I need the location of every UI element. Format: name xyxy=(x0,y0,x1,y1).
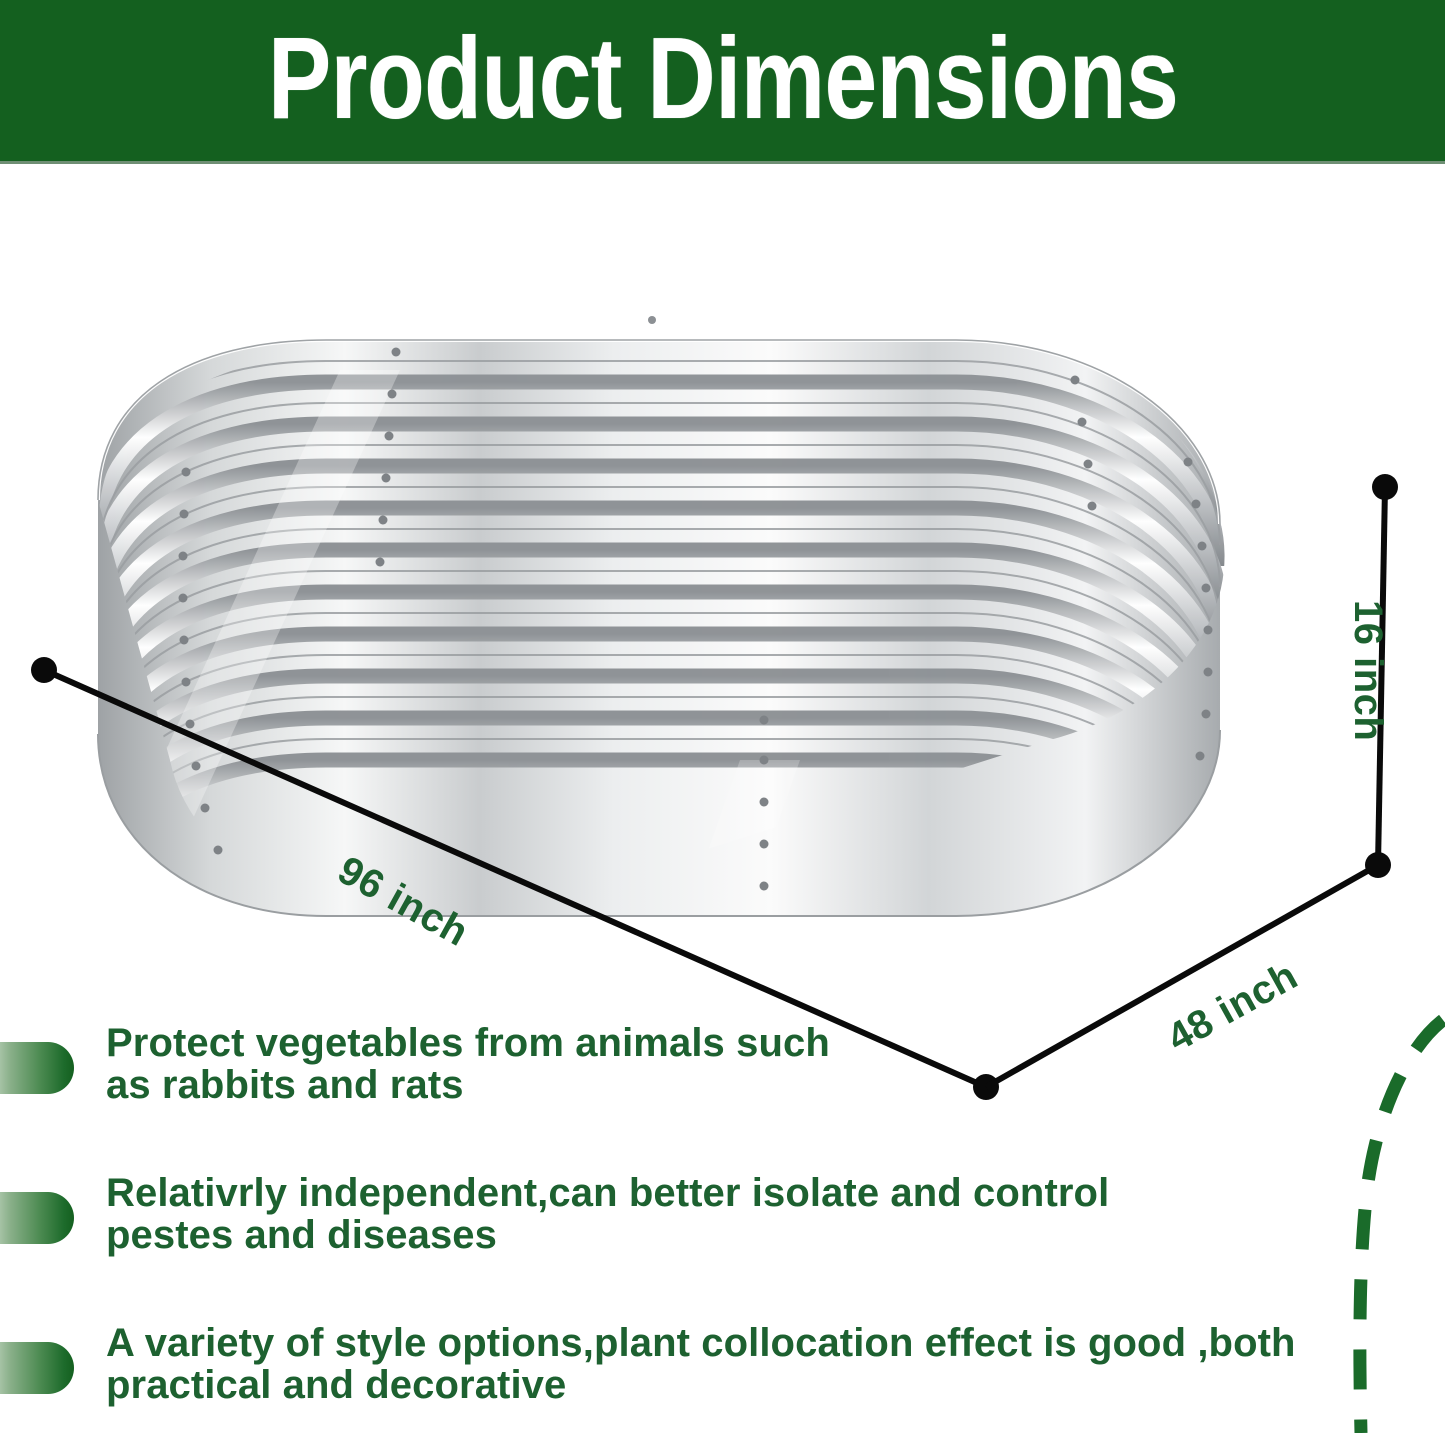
outer-wall xyxy=(98,340,1220,944)
page-title: Product Dimensions xyxy=(267,20,1177,136)
feature-line-1: Protect vegetables from animals such xyxy=(106,1022,1385,1064)
feature-line-1: Relativrly independent,can better isolat… xyxy=(106,1172,1385,1214)
bullet-pill-icon xyxy=(0,1042,74,1094)
feature-line-2: practical and decorative xyxy=(106,1364,1385,1406)
bullet-pill-icon xyxy=(0,1342,74,1394)
feature-text: Relativrly independent,can better isolat… xyxy=(106,1172,1445,1257)
feature-line-2: as rabbits and rats xyxy=(106,1064,1385,1106)
dimension-label-height: 16 inch xyxy=(1345,600,1390,741)
feature-line-1: A variety of style options,plant colloca… xyxy=(106,1322,1385,1364)
list-item: Protect vegetables from animals such as … xyxy=(0,1022,1445,1172)
header-banner: Product Dimensions xyxy=(0,0,1445,164)
product-dimensions-infographic: Product Dimensions xyxy=(0,0,1445,1433)
list-item: Relativrly independent,can better isolat… xyxy=(0,1172,1445,1322)
list-item: A variety of style options,plant colloca… xyxy=(0,1322,1445,1433)
bullet-pill-icon xyxy=(0,1192,74,1244)
feature-list: Protect vegetables from animals such as … xyxy=(0,1022,1445,1433)
product-illustration xyxy=(40,200,1380,1100)
feature-text: A variety of style options,plant colloca… xyxy=(106,1322,1445,1407)
feature-text: Protect vegetables from animals such as … xyxy=(106,1022,1445,1107)
feature-line-2: pestes and diseases xyxy=(106,1214,1385,1256)
